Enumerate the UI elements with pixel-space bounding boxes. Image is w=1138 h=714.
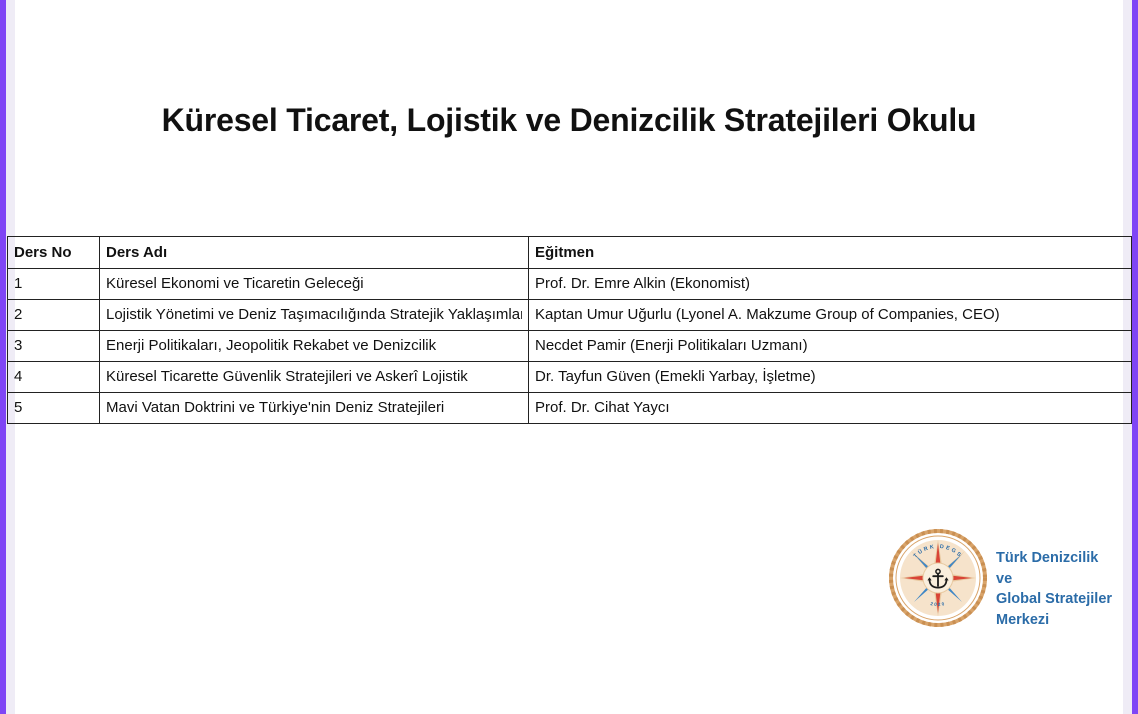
cell-egitmen: Dr. Tayfun Güven (Emekli Yarbay, İşletme… (529, 362, 1132, 393)
column-header-ders-no: Ders No (8, 237, 100, 269)
organization-logo: TÜRK DEGS 2020 Türk Denizcilik ve Global… (888, 528, 1118, 632)
table-row: 5 Mavi Vatan Doktrini ve Türkiye'nin Den… (8, 393, 1132, 424)
table-row: 2 Lojistik Yönetimi ve Deniz Taşımacılığ… (8, 300, 1132, 331)
column-header-ders-adi: Ders Adı (100, 237, 529, 269)
cell-egitmen-text: Dr. Tayfun Güven (Emekli Yarbay, İşletme… (535, 368, 1125, 385)
cell-ders-no: 4 (8, 362, 100, 393)
cell-egitmen: Prof. Dr. Emre Alkin (Ekonomist) (529, 269, 1132, 300)
cell-ders-adi-text: Küresel Ticarette Güvenlik Stratejileri … (106, 368, 522, 385)
cell-ders-no: 1 (8, 269, 100, 300)
cell-egitmen: Prof. Dr. Cihat Yaycı (529, 393, 1132, 424)
organization-name-line-1: Türk Denizcilik ve (996, 548, 1118, 589)
table-row: 3 Enerji Politikaları, Jeopolitik Rekabe… (8, 331, 1132, 362)
course-schedule-table: Ders No Ders Adı Eğitmen 1 Küresel Ekono… (7, 236, 1132, 424)
organization-name-line-2: Global Stratejiler (996, 589, 1118, 610)
cell-ders-adi: Mavi Vatan Doktrini ve Türkiye'nin Deniz… (100, 393, 529, 424)
cell-ders-adi: Enerji Politikaları, Jeopolitik Rekabet … (100, 331, 529, 362)
cell-egitmen: Kaptan Umur Uğurlu (Lyonel A. Makzume Gr… (529, 300, 1132, 331)
cell-egitmen-text: Prof. Dr. Emre Alkin (Ekonomist) (535, 275, 1125, 292)
cell-ders-no: 3 (8, 331, 100, 362)
cell-ders-adi-text: Enerji Politikaları, Jeopolitik Rekabet … (106, 337, 522, 354)
cell-ders-adi-text: Lojistik Yönetimi ve Deniz Taşımacılığın… (106, 306, 522, 323)
compass-rose-anchor-emblem-icon: TÜRK DEGS 2020 (888, 528, 988, 628)
cell-ders-no: 2 (8, 300, 100, 331)
cell-egitmen-text: Prof. Dr. Cihat Yaycı (535, 399, 1125, 416)
cell-ders-adi-text: Küresel Ekonomi ve Ticaretin Geleceği (106, 275, 522, 292)
cell-egitmen-text: Necdet Pamir (Enerji Politikaları Uzmanı… (535, 337, 1125, 354)
cell-egitmen-text: Kaptan Umur Uğurlu (Lyonel A. Makzume Gr… (535, 306, 1125, 323)
table-row: 4 Küresel Ticarette Güvenlik Stratejiler… (8, 362, 1132, 393)
table-header-row: Ders No Ders Adı Eğitmen (8, 237, 1132, 269)
cell-ders-adi: Küresel Ekonomi ve Ticaretin Geleceği (100, 269, 529, 300)
cell-egitmen: Necdet Pamir (Enerji Politikaları Uzmanı… (529, 331, 1132, 362)
slide-title: Küresel Ticaret, Lojistik ve Denizcilik … (0, 101, 1138, 139)
organization-name: Türk Denizcilik ve Global Stratejiler Me… (996, 548, 1118, 630)
slide-canvas: Küresel Ticaret, Lojistik ve Denizcilik … (0, 0, 1138, 714)
cell-ders-no: 5 (8, 393, 100, 424)
cell-ders-adi: Lojistik Yönetimi ve Deniz Taşımacılığın… (100, 300, 529, 331)
table-row: 1 Küresel Ekonomi ve Ticaretin Geleceği … (8, 269, 1132, 300)
cell-ders-adi-text: Mavi Vatan Doktrini ve Türkiye'nin Deniz… (106, 399, 522, 416)
organization-name-line-3: Merkezi (996, 610, 1118, 631)
column-header-egitmen: Eğitmen (529, 237, 1132, 269)
cell-ders-adi: Küresel Ticarette Güvenlik Stratejileri … (100, 362, 529, 393)
